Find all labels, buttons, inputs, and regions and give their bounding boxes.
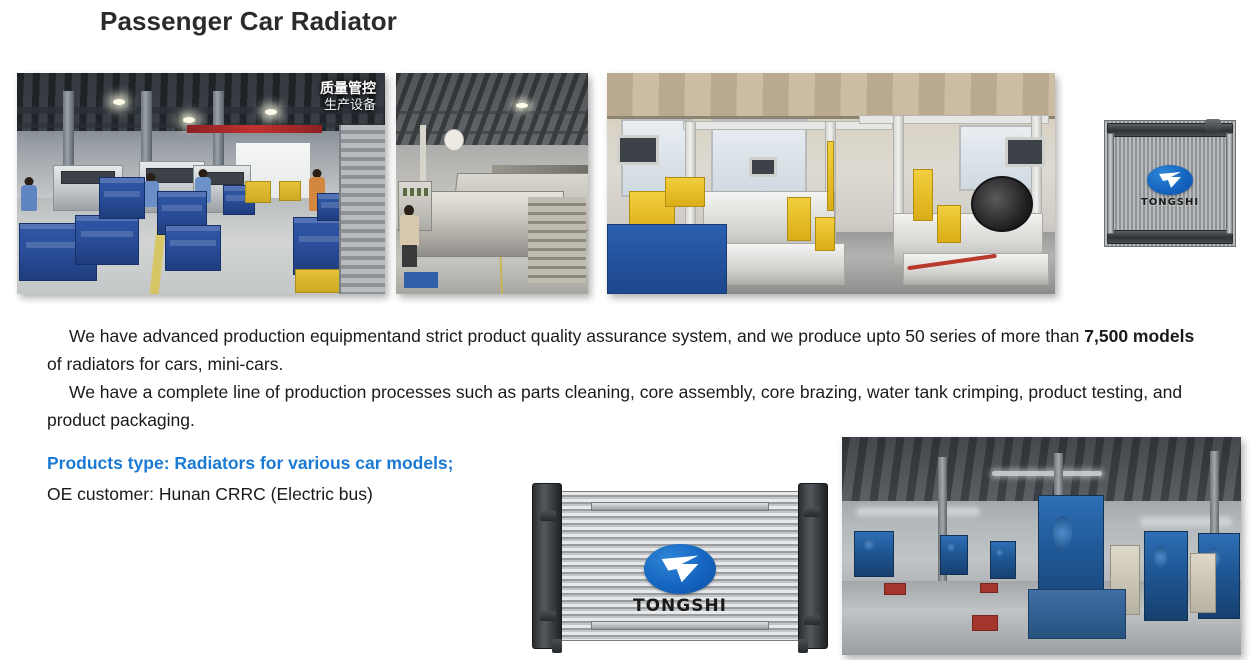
red-tool-box: [884, 583, 906, 595]
hmi-screen: [1005, 137, 1045, 167]
radiator-port: [804, 615, 820, 625]
paragraph-1-bold: 7,500 models: [1084, 326, 1194, 346]
caption-line-2: 生产设备: [320, 98, 376, 113]
stamping-press: [940, 535, 968, 575]
photo-radiator-product-small: TONGSHI: [1096, 106, 1244, 261]
oe-customer-line: OE customer: Hunan CRRC (Electric bus): [47, 481, 373, 507]
logo-mark-icon: [658, 554, 702, 584]
yellow-actuator: [815, 217, 835, 251]
yellow-actuator: [913, 169, 933, 221]
red-tool-box: [980, 583, 998, 593]
photo-automatic-assembly-line: [607, 73, 1055, 294]
yellow-rail: [827, 141, 834, 211]
light-tube: [992, 471, 1102, 476]
ceiling-lamp: [516, 103, 528, 108]
workshop-scene-3: [607, 73, 1055, 294]
photo-stamping-press-workshop: [842, 437, 1241, 655]
conveyor-unit: [1028, 589, 1126, 639]
worker-body: [21, 185, 37, 211]
logo-oval: [644, 544, 716, 594]
yellow-actuator: [937, 205, 961, 243]
blue-container: [607, 224, 727, 294]
stamping-press: [854, 531, 894, 577]
radiator-port: [804, 507, 820, 517]
roof-truss: [396, 111, 588, 114]
workshop-scene-5: [842, 437, 1241, 655]
workshop-scene-2: [396, 73, 588, 294]
radiator-small: TONGSHI: [1096, 106, 1244, 261]
page-title: Passenger Car Radiator: [100, 6, 397, 37]
radiator-mount-pin: [798, 639, 808, 653]
paragraph-1: We have advanced production equipmentand…: [47, 322, 1212, 378]
yellow-actuator: [665, 177, 705, 207]
blue-bin: [404, 272, 438, 288]
roof-structure: [842, 437, 1241, 501]
tongshi-logo: TONGSHI: [610, 544, 750, 616]
yellow-bin: [245, 181, 271, 203]
control-cabinet: [1190, 553, 1216, 613]
light-tube: [858, 509, 978, 514]
roof-structure: [607, 73, 1055, 119]
red-tool-box: [972, 615, 998, 631]
blue-crate: [75, 215, 139, 265]
photo-quality-control-workshop: 质量管控 生产设备: [17, 73, 385, 294]
radiator-inlet: [540, 511, 556, 521]
ceiling-lamp: [183, 117, 195, 123]
radiator-side-plate: [1107, 133, 1114, 234]
tongshi-logo: TONGSHI: [1132, 165, 1208, 208]
yellow-actuator: [787, 197, 811, 241]
paragraph-1-pre: We have advanced production equipmentand…: [69, 326, 1084, 346]
products-type-line: Products type: Radiators for various car…: [47, 450, 454, 476]
radiator-top-rail: [591, 502, 769, 511]
body-paragraphs: We have advanced production equipmentand…: [47, 322, 1212, 434]
photo-caption-overlay: 质量管控 生产设备: [320, 81, 376, 113]
radiator-side-plate: [1226, 133, 1233, 234]
blue-crate: [165, 225, 221, 271]
radiator-left-tank: [532, 483, 562, 649]
worker-legs: [402, 245, 417, 267]
caption-line-1: 质量管控: [320, 81, 376, 98]
red-banner: [187, 125, 322, 133]
paragraph-1-post: of radiators for cars, mini-cars.: [47, 354, 283, 374]
logo-mark-icon: [1157, 171, 1183, 189]
radiator-outlet: [540, 611, 556, 621]
workshop-scene-1: 质量管控 生产设备: [17, 73, 385, 294]
radiator-bottom-rail: [591, 621, 769, 630]
logo-wordmark: TONGSHI: [610, 596, 750, 616]
radiator-core: TONGSHI: [560, 491, 800, 641]
ceiling-lamp: [265, 109, 277, 115]
photo-radiator-product-large: TONGSHI: [524, 477, 836, 655]
gantry-beam: [859, 115, 1049, 124]
storage-rack: [339, 125, 385, 294]
worker-body: [400, 215, 419, 247]
motor-assembly: [971, 176, 1033, 232]
logo-wordmark: TONGSHI: [1132, 197, 1208, 208]
stamping-press: [990, 541, 1016, 579]
radiator-filler-neck: [1205, 119, 1221, 131]
radiator-core: TONGSHI: [1104, 120, 1236, 247]
paragraph-2: We have a complete line of production pr…: [47, 378, 1212, 434]
hmi-screen: [617, 135, 659, 165]
blue-crate: [99, 177, 145, 219]
exhaust-hood: [444, 129, 464, 151]
ceiling-lamp: [113, 99, 125, 105]
radiator-mount-pin: [552, 639, 562, 653]
hmi-screen: [749, 157, 777, 177]
yellow-bin: [279, 181, 301, 201]
stacked-pallets: [528, 197, 586, 283]
stamping-press: [1144, 531, 1188, 621]
photo-brazing-furnace-line: [396, 73, 588, 294]
slide-root: Passenger Car Radiator: [0, 0, 1260, 660]
radiator-bottom-tank: [1107, 230, 1233, 244]
logo-oval: [1147, 165, 1193, 195]
